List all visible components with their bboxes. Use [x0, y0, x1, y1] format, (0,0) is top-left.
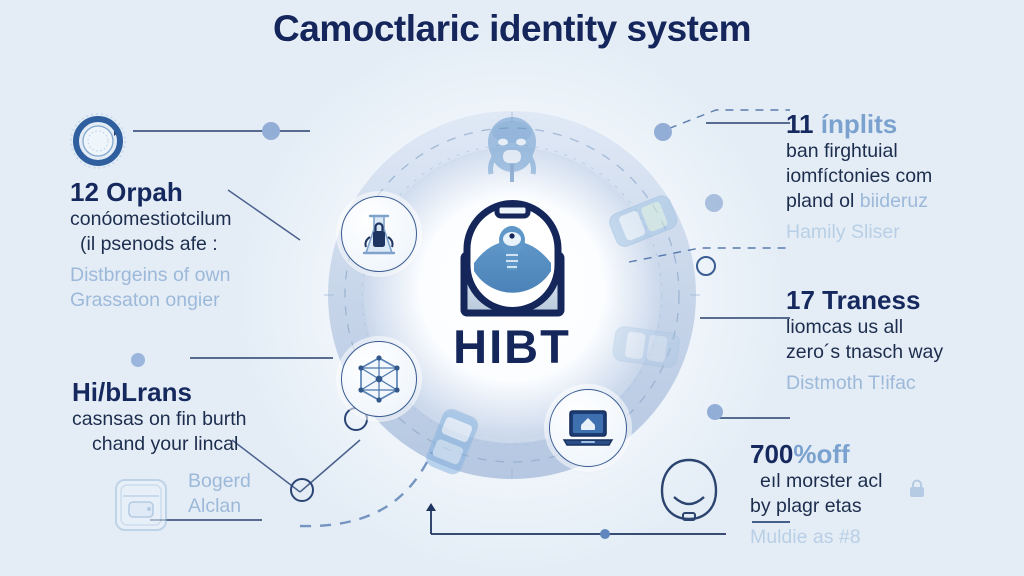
- callout-line: conóomestiotcilum: [70, 207, 320, 232]
- callout-faint-line: Distbrgeins of own: [70, 263, 320, 288]
- callout-heading-dim: ínplits: [821, 109, 898, 139]
- callout-line: (il psenods afe :: [70, 232, 320, 257]
- callout-left-top: 12 Orpah conóomestiotcilum (il psenods a…: [70, 178, 320, 313]
- small-lock-icon-badge: [906, 478, 928, 500]
- callout-heading: 700%off: [750, 440, 1016, 469]
- callout-heading-strong: 11: [786, 109, 821, 139]
- ring-gear-icon: [67, 110, 129, 172]
- node-network-hexagon[interactable]: [341, 341, 417, 417]
- node-lab-flask-lock[interactable]: [341, 196, 417, 272]
- lock-icon: [906, 478, 928, 500]
- callout-line: by plagr etas: [750, 494, 1016, 519]
- callout-faint-line: Alclan: [72, 494, 322, 519]
- node-oval-outline[interactable]: [656, 455, 722, 527]
- node-ring-gear[interactable]: [67, 110, 129, 172]
- callout-right-middle: 17 Traness liomcas us all zero´s tnasch …: [786, 286, 1016, 396]
- infographic-canvas: Camoctlaric identity system: [0, 0, 1024, 576]
- brand-text: HIBT: [453, 323, 571, 370]
- callout-line-dim: biideruz: [854, 190, 928, 212]
- callout-heading: 11 ínplits: [786, 110, 1016, 139]
- callout-line: zero´s tnasch way: [786, 340, 1016, 365]
- lab-flask-lock-icon: [352, 207, 406, 261]
- callout-heading: 17 Traness: [786, 286, 1016, 315]
- node-person-head: [481, 112, 543, 190]
- callout-faint-line: Muldie as #8: [750, 525, 1016, 550]
- callout-line: iomfíctonies com: [786, 164, 1016, 189]
- node-laptop[interactable]: [549, 389, 627, 467]
- callout-line: eıl morster acl: [750, 469, 1016, 494]
- callout-faint-line: Grassaton ongier: [70, 288, 320, 313]
- shield-person-badge-icon: [450, 193, 575, 321]
- node-package-block-lower: [606, 315, 685, 380]
- callout-line: pland ol biideruz: [786, 189, 1016, 214]
- callout-heading: Hi/bLrans: [72, 378, 322, 407]
- callout-faint-line: Distmoth T!ifac: [786, 371, 1016, 396]
- callout-line: chand your lincal: [72, 432, 322, 457]
- callout-heading-strong: 700: [750, 439, 793, 469]
- oval-outline-icon: [656, 455, 722, 527]
- callout-right-top: 11 ínplits ban firghtuial iomfíctonies c…: [786, 110, 1016, 245]
- center-brand: HIBT: [416, 193, 608, 393]
- callout-right-bottom: 700%off eıl morster acl by plagr etas Mu…: [750, 440, 1016, 550]
- package-block-icon: [606, 315, 685, 380]
- person-head-icon: [481, 112, 543, 190]
- callout-line-text: pland ol: [786, 190, 854, 212]
- network-hexagon-icon: [353, 353, 405, 405]
- callout-line: casnsas on fin burth: [72, 407, 322, 432]
- callout-heading-dim: %off: [793, 439, 849, 469]
- laptop-icon: [561, 406, 615, 450]
- callout-line: liomcas us all: [786, 315, 1016, 340]
- callout-faint-line: Bogerd: [72, 469, 322, 494]
- callout-line: ban firghtuial: [786, 139, 1016, 164]
- callout-heading: 12 Orpah: [70, 178, 320, 207]
- callout-left-bottom: Hi/bLrans casnsas on fin burth chand you…: [72, 378, 322, 519]
- callout-faint-line: Hamily Sliser: [786, 220, 1016, 245]
